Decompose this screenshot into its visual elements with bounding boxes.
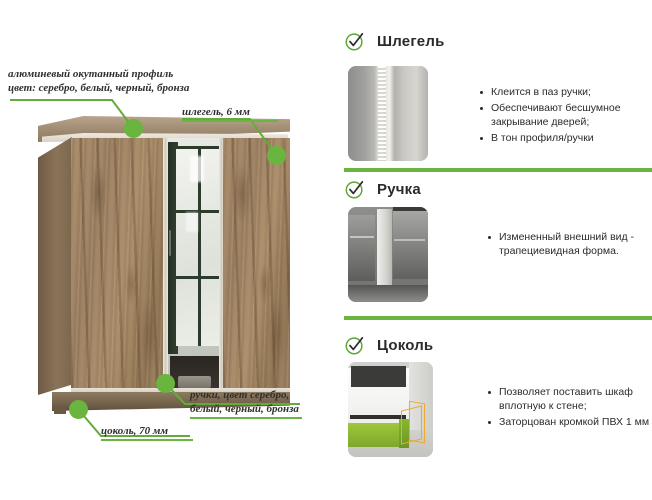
brush-seal-strip [378,66,386,161]
section-header-handle: Ручка [344,178,421,200]
sliding-door-right [223,138,290,390]
plinth-photo-green-base [348,423,402,448]
handle-photo-art [348,207,428,302]
bullet-list-plinth: Позволяет поставить шкаф вплотную к стен… [486,385,652,431]
feature-section-shlegel: Шлегель Клеится в паз ручки; Обеспечиваю… [330,0,652,162]
photo-trapezoid-handle [348,207,428,302]
bullet-item: Позволяет поставить шкаф вплотную к стен… [486,385,652,413]
section-title-plinth: Цоколь [377,337,433,354]
callout-profile-line-2: цвет: серебро, белый, черный, бронза [8,82,189,94]
feature-section-handle: Ручка Измененный внешний вид - трапециев… [330,176,652,316]
check-circle-icon [344,30,366,52]
mirror-mullion-horizontal-2 [176,276,223,279]
callout-handles-line-2: белый, черный, бронза [190,403,299,415]
mirror-rug [178,376,211,388]
plinth-photo-slot [350,415,406,419]
bullet-item: Клеится в паз ручки; [478,85,644,99]
plinth-photo-annotation-box-2 [409,401,425,444]
bullet-item: Измененный внешний вид - трапециевидная … [486,230,646,258]
infographic-root: алюминевый окутанный профиль цвет: сереб… [0,0,652,500]
marker-dot-shlegel [267,146,286,165]
door-handle [169,230,171,256]
wardrobe-image [38,116,290,406]
callout-handles: ручки, цвет серебро, белый, черный, брон… [190,388,302,419]
callout-plinth-line-1: цоколь, 70 мм [101,425,168,437]
bullet-item: Заторцован кромкой ПВХ 1 мм [486,415,652,429]
mirror-highlight-2 [186,212,198,232]
photo-green-plinth [348,362,433,457]
wardrobe-doors [71,138,290,390]
sliding-door-mirror [168,138,223,390]
check-circle-icon [344,178,366,200]
mirror-mullion-horizontal-1 [176,210,223,213]
handle-photo-panel-right [393,211,428,279]
feature-section-plinth: Цоколь Позволяет поставить шкаф вплотную… [330,330,652,500]
bullet-item: В тон профиля/ручки [478,131,644,145]
handle-photo-rail [348,285,428,302]
bullet-item: Обеспечивают бесшумное закрывание дверей… [478,101,644,129]
bullet-list-handle: Измененный внешний вид - трапециевидная … [486,230,646,260]
marker-dot-plinth [69,400,88,419]
callout-shlegel-line-1: шлегель, 6 мм [182,106,250,118]
section-title-handle: Ручка [377,181,421,198]
handle-photo-stripe-1 [350,236,374,238]
check-circle-icon [344,334,366,356]
wardrobe-side-wall [38,137,72,395]
section-header-plinth: Цоколь [344,334,433,356]
callout-plinth: цоколь, 70 мм [101,424,193,441]
callout-handles-line-1: ручки, цвет серебро, [190,389,289,401]
callout-shlegel-underline [182,120,278,122]
marker-dot-handles [156,374,175,393]
features-panel: Шлегель Клеится в паз ручки; Обеспечиваю… [330,0,652,500]
callout-profile-line-1: алюминевый окутанный профиль [8,68,173,80]
plinth-photo-art [348,362,433,457]
mirror-highlight-1 [190,156,204,182]
marker-dot-profile [124,119,143,138]
callout-plinth-underline [101,439,193,441]
section-header-shlegel: Шлегель [344,30,445,52]
photo-shlegel-brush-seal [348,66,428,161]
door-profile-edge-left [163,138,168,390]
mirror-reflection [168,138,223,390]
handle-photo-stripe-2 [394,239,424,241]
wardrobe-illustration-panel: алюминевый окутанный профиль цвет: сереб… [0,0,330,500]
shlegel-photo-art [348,66,428,161]
bullet-list-shlegel: Клеится в паз ручки; Обеспечивают бесшум… [478,85,644,147]
section-title-shlegel: Шлегель [377,33,445,50]
callout-profile: алюминевый окутанный профиль цвет: сереб… [8,67,164,95]
wardrobe-foot [54,406,66,414]
section-divider-1 [344,168,652,172]
handle-photo-profile [377,209,392,291]
section-divider-2 [344,316,652,320]
sliding-door-left [71,138,168,390]
plinth-photo-cabinet-top [351,366,405,387]
mirror-mullion-top [176,146,223,149]
handle-photo-panel-left [348,215,375,282]
callout-handles-underline [190,417,302,419]
callout-shlegel: шлегель, 6 мм [182,105,278,122]
